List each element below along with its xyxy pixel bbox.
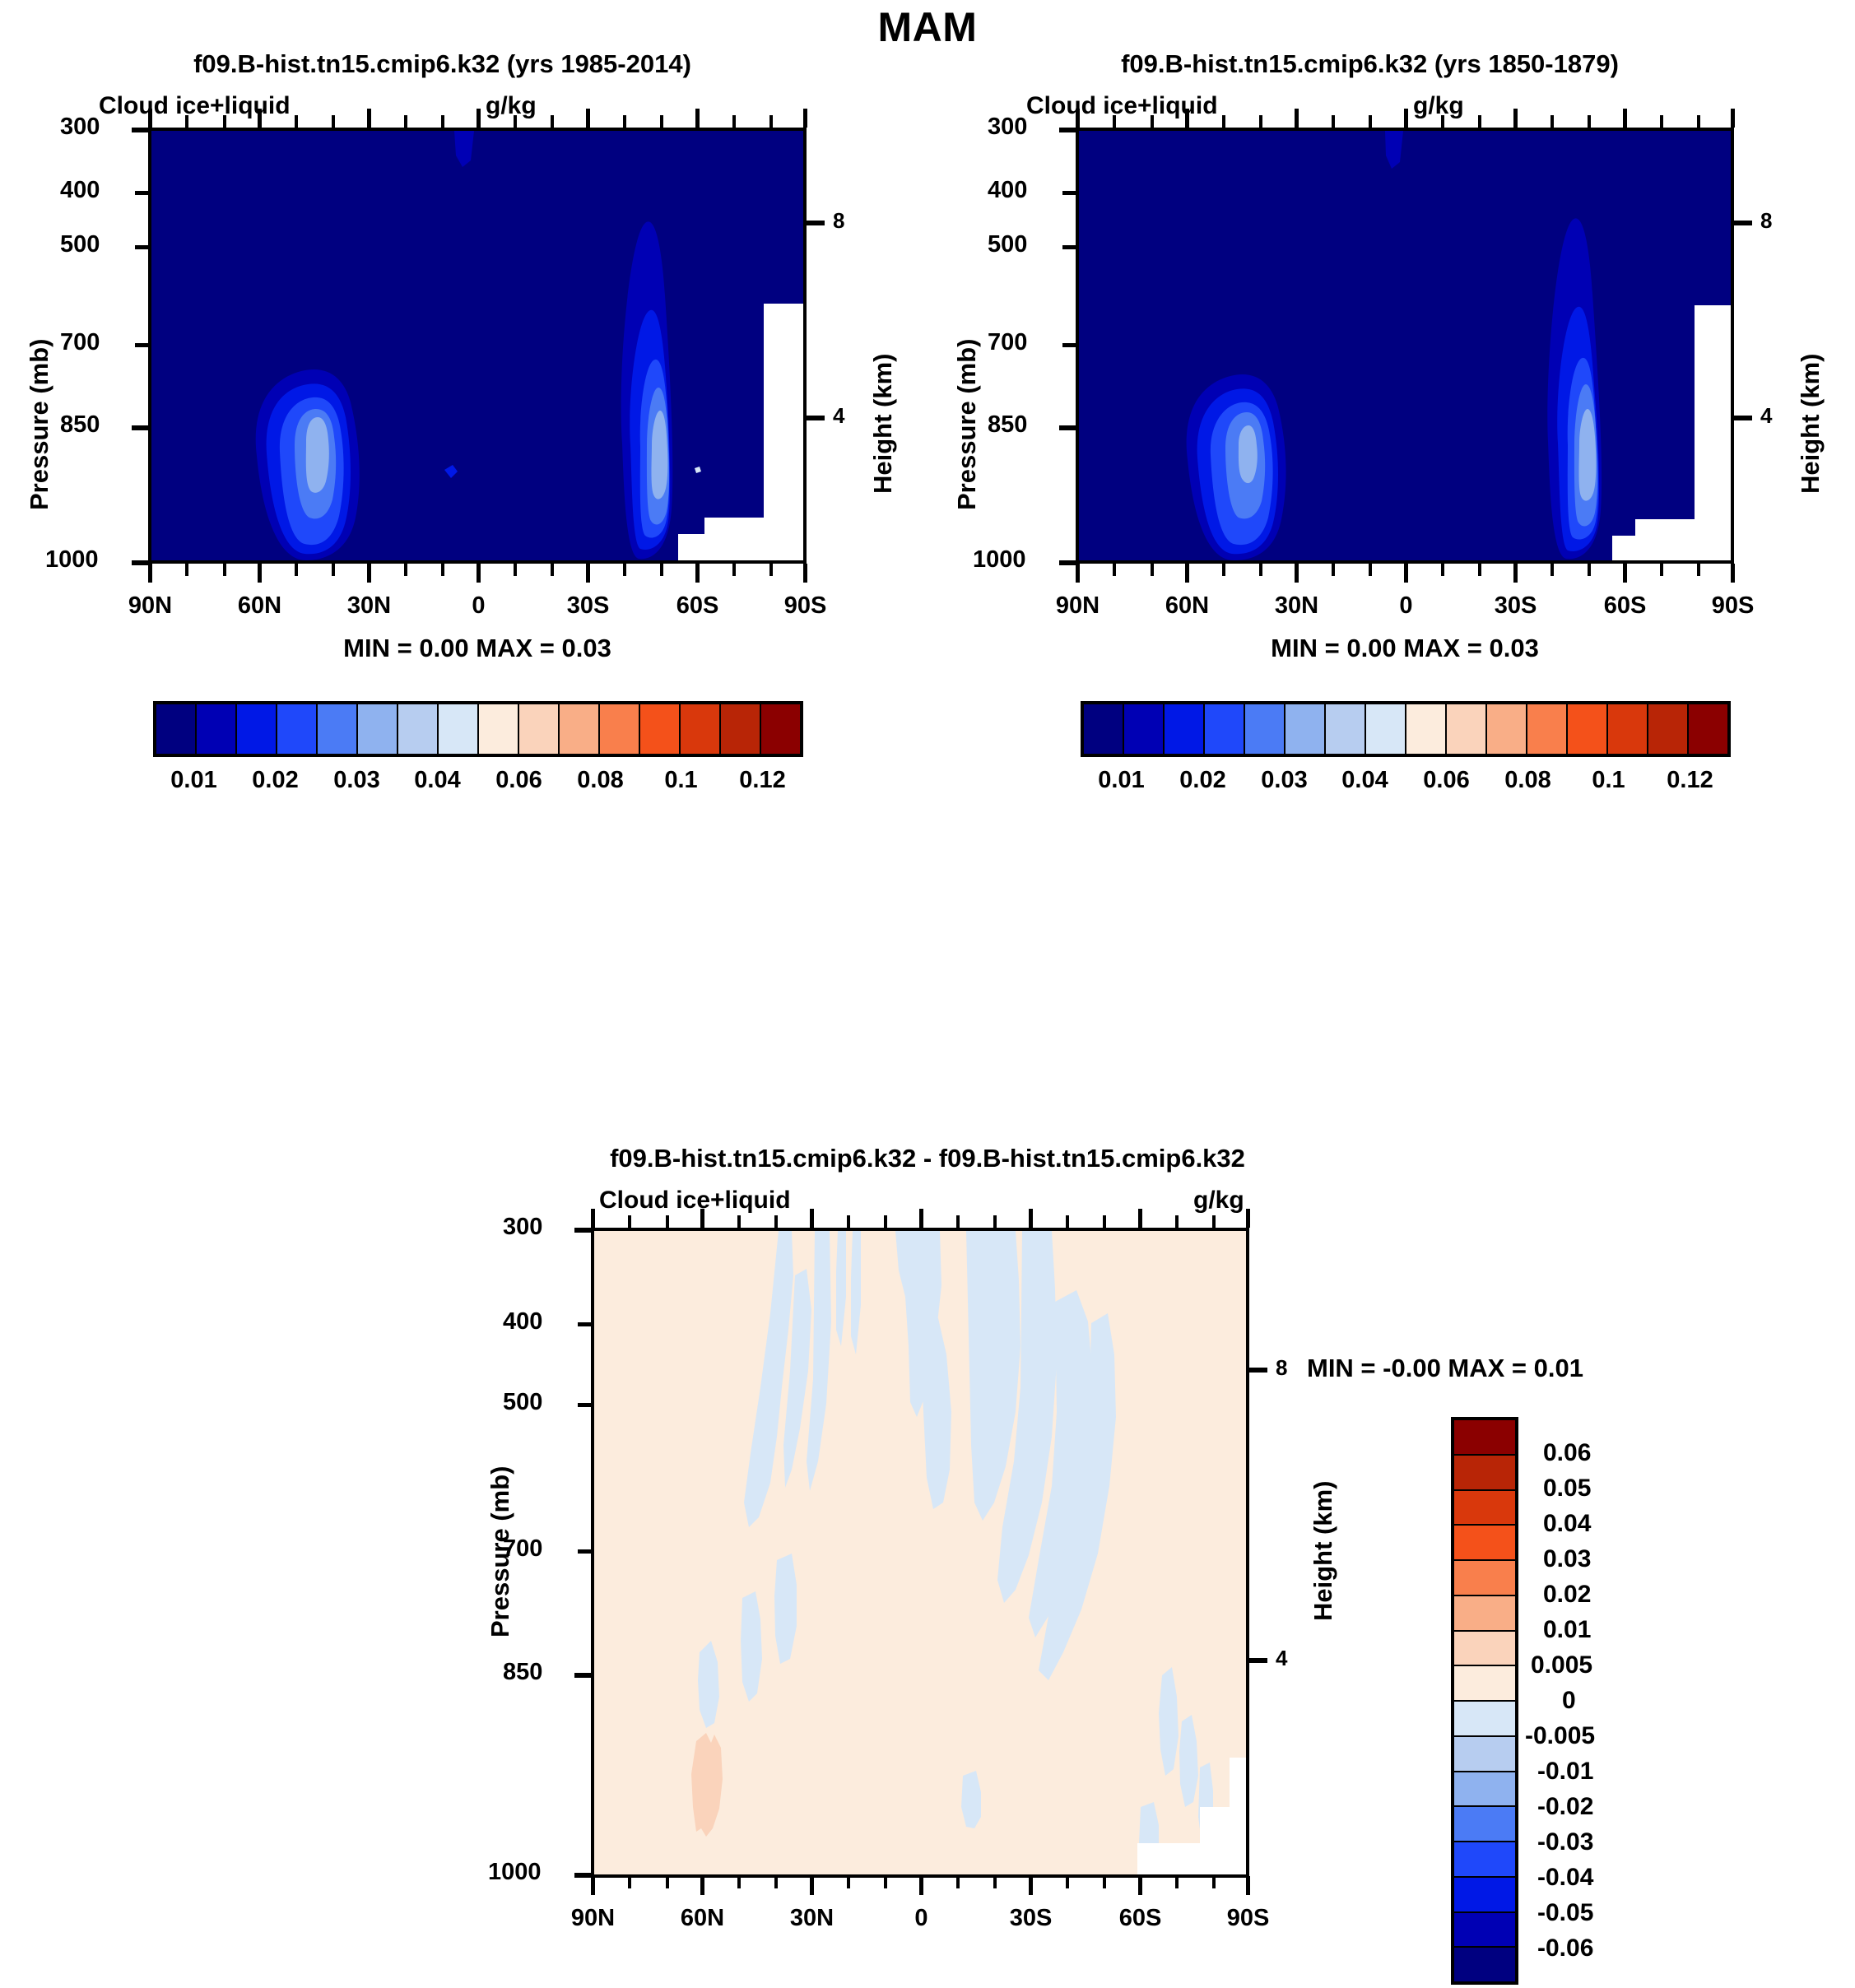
y-tick-1000: 1000	[45, 546, 99, 574]
units-label: g/kg	[1193, 1187, 1244, 1215]
cbar-cell	[197, 704, 237, 754]
panel-title: f09.B-hist.tn15.cmip6.k32 (yrs 1985-2014…	[0, 49, 885, 79]
cbar-label: 0.06	[1406, 767, 1487, 794]
cbar-cell	[1084, 704, 1124, 754]
cbar-cell	[1527, 704, 1568, 754]
panel-bottom-diff: f09.B-hist.tn15.cmip6.k32 - f09.B-hist.t…	[0, 1127, 1855, 1988]
cbar-cell	[318, 704, 358, 754]
cbar-cell	[1454, 1702, 1515, 1737]
colorbar-absolute-top-left	[153, 701, 803, 757]
x-tick-90S: 90S	[1690, 592, 1776, 620]
minmax-text: MIN = 0.00 MAX = 0.03	[1076, 634, 1734, 663]
cbar-label: -0.005	[1525, 1722, 1595, 1750]
cbar-cell	[1326, 704, 1366, 754]
cbar-cell	[398, 704, 439, 754]
cbar-label: 0.06	[478, 767, 560, 794]
y-tick-700: 700	[503, 1535, 542, 1563]
units-label: g/kg	[486, 92, 537, 120]
cbar-cell	[1454, 1948, 1515, 1981]
x-tick-0: 0	[878, 1905, 965, 1932]
cbar-cell	[1454, 1913, 1515, 1949]
y2-axis-label: Height (km)	[1309, 1481, 1338, 1622]
y2-tick-8: 8	[833, 208, 844, 234]
cbar-cell	[1454, 1526, 1515, 1561]
minmax-text: MIN = 0.00 MAX = 0.03	[148, 634, 807, 663]
x-tick-90N: 90N	[1034, 592, 1121, 620]
cbar-label: 0.005	[1531, 1651, 1592, 1679]
cbar-label: 0.12	[722, 767, 803, 794]
y-tick-400: 400	[988, 177, 1027, 204]
cbar-cell	[277, 704, 318, 754]
variable-label: Cloud ice+liquid	[599, 1187, 791, 1215]
cbar-label: 0	[1562, 1687, 1576, 1715]
x-tick-90N: 90N	[550, 1905, 636, 1932]
cbar-cell	[761, 704, 800, 754]
y-tick-300: 300	[503, 1214, 542, 1241]
cbar-label: 0.03	[1543, 1545, 1591, 1573]
cbar-cell	[519, 704, 560, 754]
figure-super-title: MAM	[0, 3, 1855, 51]
contour-field-diff	[594, 1231, 1246, 1874]
cbar-cell	[721, 704, 761, 754]
x-tick-30N: 30N	[769, 1905, 855, 1932]
y2-tick-4: 4	[1276, 1646, 1287, 1671]
cbar-cell	[1454, 1491, 1515, 1526]
cbar-label: 0.08	[1487, 767, 1569, 794]
cbar-label: 0.01	[1543, 1616, 1591, 1644]
panel-top-left: f09.B-hist.tn15.cmip6.k32 (yrs 1985-2014…	[0, 49, 928, 1119]
cbar-cell	[1245, 704, 1285, 754]
cbar-cell	[1454, 1842, 1515, 1878]
cbar-label: -0.03	[1537, 1828, 1593, 1856]
cbar-cell	[1454, 1596, 1515, 1632]
cbar-label: -0.04	[1537, 1864, 1593, 1892]
cbar-label: 0.02	[1543, 1581, 1591, 1609]
cbar-cell	[1568, 704, 1608, 754]
cbar-cell	[479, 704, 519, 754]
cbar-label: -0.01	[1537, 1758, 1593, 1786]
y-axis-label: Pressure (mb)	[25, 339, 54, 510]
cbar-cell	[1454, 1878, 1515, 1913]
cbar-cell	[1454, 1666, 1515, 1702]
contour-field	[151, 131, 803, 560]
colorbar-difference	[1451, 1417, 1518, 1985]
cbar-cell	[1454, 1561, 1515, 1596]
cbar-label: 0.12	[1649, 767, 1731, 794]
cbar-cell	[1608, 704, 1648, 754]
cbar-label: 0.03	[316, 767, 397, 794]
y-tick-850: 850	[60, 411, 100, 439]
y-tick-300: 300	[988, 114, 1027, 141]
y2-tick-4: 4	[1760, 403, 1772, 429]
x-tick-60S: 60S	[1582, 592, 1668, 620]
contour-field	[1079, 131, 1731, 560]
panel-title: f09.B-hist.tn15.cmip6.k32 (yrs 1850-1879…	[928, 49, 1812, 79]
cbar-cell	[1454, 1420, 1515, 1456]
cbar-cell	[1454, 1772, 1515, 1808]
x-tick-90S: 90S	[762, 592, 848, 620]
y-tick-500: 500	[988, 231, 1027, 258]
x-tick-90S: 90S	[1205, 1905, 1291, 1932]
panel-title: f09.B-hist.tn15.cmip6.k32 - f09.B-hist.t…	[310, 1144, 1545, 1173]
cbar-label: 0.1	[640, 767, 722, 794]
cbar-label: -0.05	[1537, 1899, 1593, 1927]
cbar-label: 0.05	[1543, 1475, 1591, 1503]
cbar-cell	[1285, 704, 1326, 754]
x-tick-0: 0	[1363, 592, 1449, 620]
y-tick-400: 400	[503, 1308, 542, 1335]
cbar-label: 0.1	[1568, 767, 1649, 794]
cbar-label: 0.02	[1162, 767, 1244, 794]
x-tick-60N: 60N	[659, 1905, 746, 1932]
x-tick-30S: 30S	[545, 592, 631, 620]
colorbar-absolute-top-right	[1081, 701, 1731, 757]
y-tick-300: 300	[60, 114, 100, 141]
x-tick-60S: 60S	[1097, 1905, 1183, 1932]
cbar-label: 0.08	[560, 767, 641, 794]
cbar-cell	[1165, 704, 1205, 754]
x-tick-60N: 60N	[216, 592, 303, 620]
x-tick-60S: 60S	[654, 592, 741, 620]
cbar-cell	[358, 704, 398, 754]
cbar-cell	[1454, 1737, 1515, 1772]
y2-axis-label: Height (km)	[868, 354, 898, 495]
y-tick-400: 400	[60, 177, 100, 204]
cbar-label: -0.02	[1537, 1793, 1593, 1821]
x-tick-0: 0	[435, 592, 522, 620]
cbar-cell	[1447, 704, 1487, 754]
cbar-label: 0.04	[1543, 1510, 1591, 1538]
y-tick-1000: 1000	[488, 1859, 542, 1886]
y-tick-500: 500	[503, 1389, 542, 1416]
y2-axis-label: Height (km)	[1796, 354, 1825, 495]
y2-tick-8: 8	[1276, 1355, 1287, 1381]
cbar-cell	[560, 704, 600, 754]
y-tick-500: 500	[60, 231, 100, 258]
cbar-cell	[1205, 704, 1245, 754]
plot-area-bottom-diff	[591, 1228, 1249, 1878]
cbar-label: 0.04	[397, 767, 478, 794]
cbar-cell	[1454, 1456, 1515, 1491]
panel-top-right: f09.B-hist.tn15.cmip6.k32 (yrs 1850-1879…	[928, 49, 1855, 1119]
x-tick-30N: 30N	[326, 592, 412, 620]
cbar-cell	[156, 704, 197, 754]
cbar-cell	[1454, 1807, 1515, 1842]
cbar-label: 0.01	[153, 767, 235, 794]
y-tick-700: 700	[60, 329, 100, 356]
cbar-cell	[600, 704, 640, 754]
x-tick-30S: 30S	[988, 1905, 1074, 1932]
cbar-label: 0.01	[1081, 767, 1162, 794]
cbar-cell	[1124, 704, 1165, 754]
x-tick-60N: 60N	[1144, 592, 1230, 620]
y-axis-label: Pressure (mb)	[952, 339, 982, 510]
cbar-label: -0.06	[1537, 1935, 1593, 1962]
units-label: g/kg	[1413, 92, 1464, 120]
y-tick-850: 850	[503, 1659, 542, 1686]
cbar-cell	[640, 704, 681, 754]
y2-tick-4: 4	[833, 403, 844, 429]
y-tick-700: 700	[988, 329, 1027, 356]
x-tick-90N: 90N	[107, 592, 193, 620]
cbar-cell	[439, 704, 479, 754]
cbar-cell	[1648, 704, 1689, 754]
minmax-text: MIN = -0.00 MAX = 0.01	[1307, 1354, 1583, 1383]
cbar-label: 0.03	[1244, 767, 1325, 794]
x-tick-30S: 30S	[1472, 592, 1559, 620]
cbar-label: 0.04	[1324, 767, 1406, 794]
y-tick-1000: 1000	[973, 546, 1026, 574]
cbar-cell	[1454, 1632, 1515, 1667]
plot-area-top-right	[1076, 128, 1734, 564]
cbar-cell	[1406, 704, 1447, 754]
cbar-label: 0.06	[1543, 1439, 1591, 1467]
y-tick-850: 850	[988, 411, 1027, 439]
plot-area-top-left	[148, 128, 807, 564]
cbar-cell	[237, 704, 277, 754]
cbar-cell	[1689, 704, 1727, 754]
cbar-cell	[681, 704, 721, 754]
y2-tick-8: 8	[1760, 208, 1772, 234]
cbar-cell	[1487, 704, 1527, 754]
cbar-cell	[1366, 704, 1406, 754]
cbar-label: 0.02	[235, 767, 316, 794]
x-tick-30N: 30N	[1253, 592, 1340, 620]
